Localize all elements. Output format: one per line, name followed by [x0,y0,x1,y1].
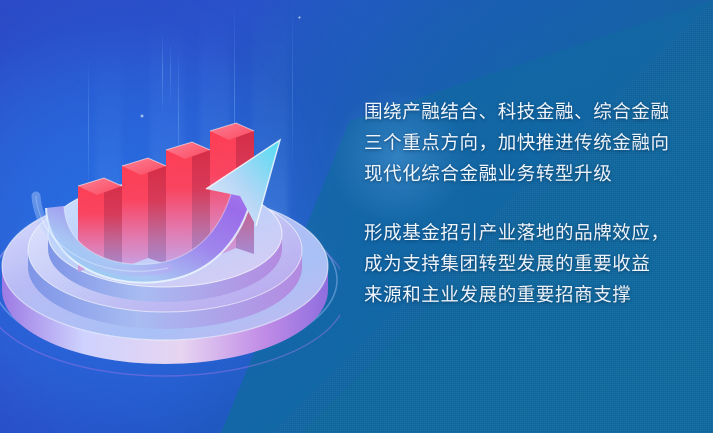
growth-chart-illustration [0,0,340,433]
paragraph-2-line-3: 来源和主业发展的重要招商支撑 [364,284,631,305]
paragraph-1: 围绕产融结合、科技金融、综合金融 三个重点方向，加快推进传统金融向 现代化综合金… [364,96,694,189]
paragraph-2-line-1: 形成基金招引产业落地的品牌效应， [364,222,670,243]
paragraph-2-line-2: 成为支持集团转型发展的重要收益 [364,253,651,274]
copy-block: 围绕产融结合、科技金融、综合金融 三个重点方向，加快推进传统金融向 现代化综合金… [364,96,694,310]
paragraph-1-line-2: 三个重点方向，加快推进传统金融向 [364,132,670,153]
paragraph-2: 形成基金招引产业落地的品牌效应， 成为支持集团转型发展的重要收益 来源和主业发展… [364,217,694,310]
promotional-banner: 围绕产融结合、科技金融、综合金融 三个重点方向，加快推进传统金融向 现代化综合金… [0,0,713,433]
paragraph-1-line-1: 围绕产融结合、科技金融、综合金融 [364,101,670,122]
bar-2 [122,158,166,268]
paragraph-1-line-3: 现代化综合金融业务转型升级 [364,163,612,184]
